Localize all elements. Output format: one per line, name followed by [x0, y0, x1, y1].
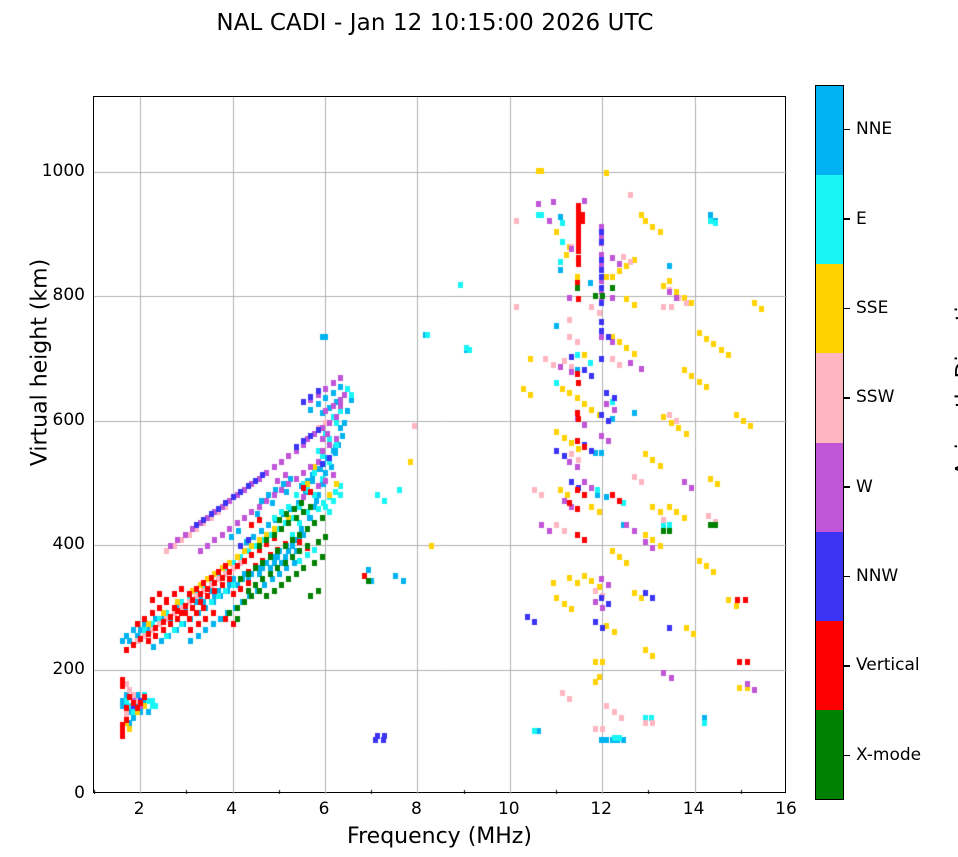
colorbar-category-label: W	[856, 479, 873, 496]
y-axis-label: Virtual height (km)	[28, 233, 53, 493]
azimuth-colorbar	[815, 85, 844, 800]
colorbar-category-label: X-mode	[856, 747, 921, 764]
colorbar-segment-e	[816, 175, 843, 264]
x-axis-ticks: 246810121416	[93, 801, 786, 825]
colorbar-tick-nne: NNE	[844, 121, 892, 139]
colorbar-segment-nne	[816, 86, 843, 175]
colorbar-category-label: Vertical	[856, 657, 920, 674]
tick-mark-icon	[844, 755, 850, 756]
colorbar-tick-x-mode: X-mode	[844, 746, 921, 764]
colorbar-tick-ssw: SSW	[844, 389, 894, 407]
colorbar-segment-x-mode	[816, 710, 843, 799]
tick-mark-icon	[844, 576, 850, 577]
colorbar-segment-sse	[816, 264, 843, 353]
colorbar-category-label: NNE	[856, 121, 892, 138]
colorbar-tick-vertical: Vertical	[844, 657, 920, 675]
colorbar-tick-sse: SSE	[844, 299, 888, 317]
scatter-plot-canvas	[94, 97, 787, 794]
x-tick-label: 4	[207, 801, 257, 818]
tick-mark-icon	[844, 665, 850, 666]
x-tick-label: 16	[761, 801, 811, 818]
x-tick-label: 12	[576, 801, 626, 818]
colorbar-segment-vertical	[816, 621, 843, 710]
tick-mark-icon	[844, 129, 850, 130]
colorbar-tick-labels: NNEESSESSWWNNWVerticalX-mode	[844, 85, 954, 800]
y-tick-label: 1000	[39, 163, 85, 180]
y-tick-label: 0	[39, 785, 85, 802]
plot-axes	[93, 96, 786, 793]
colorbar-category-label: NNW	[856, 568, 898, 585]
x-axis-label: Frequency (MHz)	[93, 824, 786, 849]
colorbar-tick-w: W	[844, 478, 873, 496]
tick-mark-icon	[844, 308, 850, 309]
colorbar-segment-w	[816, 443, 843, 532]
tick-mark-icon	[844, 218, 850, 219]
colorbar-segment-ssw	[816, 353, 843, 442]
ionogram-figure: NAL CADI - Jan 12 10:15:00 2026 UTC 0200…	[0, 0, 958, 857]
x-tick-label: 6	[299, 801, 349, 818]
colorbar-category-label: SSW	[856, 389, 894, 406]
colorbar-category-label: E	[856, 211, 867, 228]
page-title: NAL CADI - Jan 12 10:15:00 2026 UTC	[0, 10, 870, 36]
colorbar-tick-e: E	[844, 210, 867, 228]
tick-mark-icon	[844, 486, 850, 487]
x-tick-label: 10	[484, 801, 534, 818]
tick-mark-icon	[844, 397, 850, 398]
x-tick-label: 2	[114, 801, 164, 818]
y-tick-label: 200	[39, 661, 85, 678]
colorbar-segment-nnw	[816, 532, 843, 621]
x-tick-label: 8	[391, 801, 441, 818]
colorbar-tick-nnw: NNW	[844, 568, 898, 586]
y-tick-label: 400	[39, 536, 85, 553]
colorbar-category-label: SSE	[856, 300, 888, 317]
x-tick-label: 14	[669, 801, 719, 818]
colorbar-label: Azimuth Direction	[953, 248, 958, 508]
